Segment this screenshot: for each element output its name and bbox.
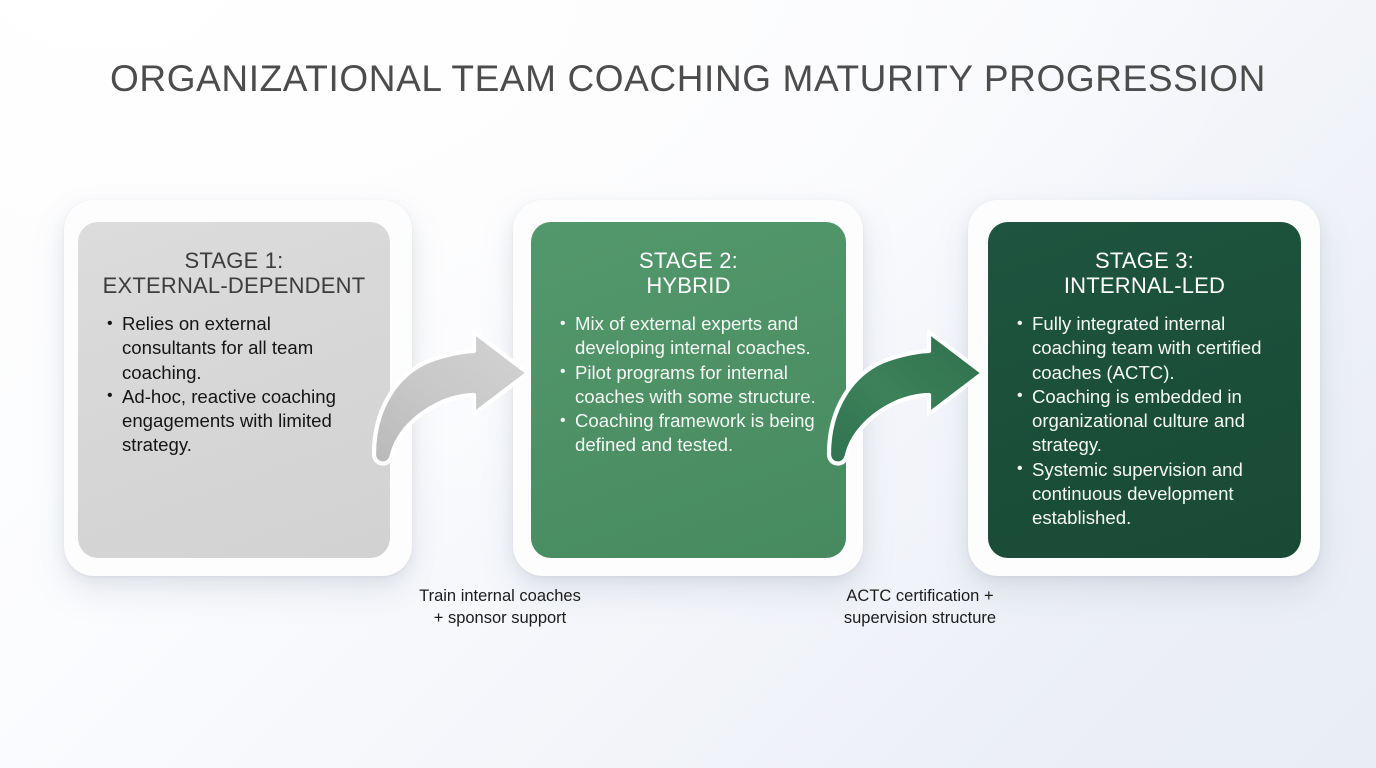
stage-2-bullet-list: Mix of external experts and developing i… bbox=[551, 312, 826, 458]
list-item: Relies on external consultants for all t… bbox=[122, 312, 368, 385]
stage-3-title: STAGE 3: INTERNAL-LED bbox=[1008, 248, 1281, 298]
list-item: Fully integrated internal coaching team … bbox=[1032, 312, 1279, 385]
stage-2-title: STAGE 2: HYBRID bbox=[551, 248, 826, 298]
stage-1-title: STAGE 1: EXTERNAL-DEPENDENT bbox=[98, 248, 370, 298]
stage-1-bullet-list: Relies on external consultants for all t… bbox=[98, 312, 370, 458]
transition-1-caption: Train internal coaches + sponsor support bbox=[340, 586, 660, 629]
stage-3-bullet-list: Fully integrated internal coaching team … bbox=[1008, 312, 1281, 531]
diagram-canvas: ORGANIZATIONAL TEAM COACHING MATURITY PR… bbox=[0, 0, 1376, 768]
list-item: Ad-hoc, reactive coaching engagements wi… bbox=[122, 385, 368, 458]
stage-1-card: STAGE 1: EXTERNAL-DEPENDENT Relies on ex… bbox=[78, 222, 390, 558]
list-item: Systemic supervision and continuous deve… bbox=[1032, 458, 1279, 531]
stage-3-card: STAGE 3: INTERNAL-LED Fully integrated i… bbox=[988, 222, 1301, 558]
list-item: Mix of external experts and developing i… bbox=[575, 312, 824, 361]
stage-2-card: STAGE 2: HYBRID Mix of external experts … bbox=[531, 222, 846, 558]
page-title: ORGANIZATIONAL TEAM COACHING MATURITY PR… bbox=[0, 58, 1376, 100]
list-item: Coaching framework is being defined and … bbox=[575, 409, 824, 458]
transition-2-caption: ACTC certification + supervision structu… bbox=[760, 586, 1080, 629]
list-item: Coaching is embedded in organizational c… bbox=[1032, 385, 1279, 458]
list-item: Pilot programs for internal coaches with… bbox=[575, 361, 824, 410]
